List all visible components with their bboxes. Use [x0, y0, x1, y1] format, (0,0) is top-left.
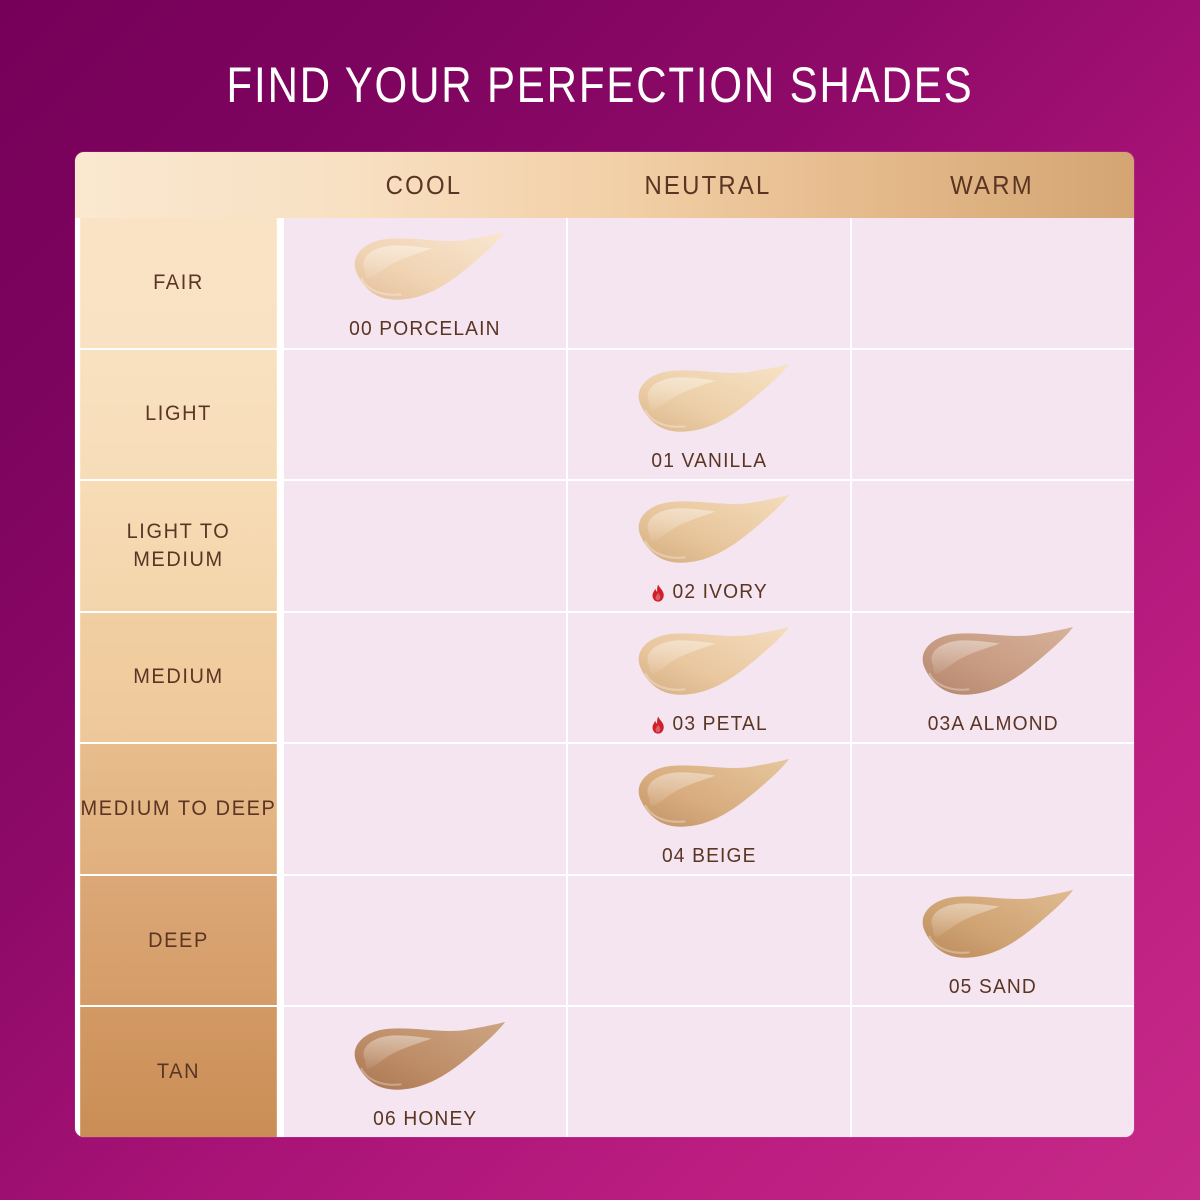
row-label-deep: DEEP: [80, 876, 277, 1006]
shade-cell-empty-neutral-0: [566, 218, 850, 348]
shade-label: 03A ALMOND: [927, 713, 1058, 736]
foundation-swatch-art: [625, 360, 793, 444]
shade-label: 01 VANILLA: [651, 450, 767, 473]
shade-label-text: 05 SAND: [949, 976, 1037, 999]
column-header-neutral: NEUTRAL: [577, 152, 838, 218]
header-corner-cell: [75, 152, 282, 218]
shade-cell-sand[interactable]: 05 SAND: [850, 876, 1134, 1006]
table-row: FAIR 00 PORCELAIN: [75, 218, 1134, 348]
shade-label-text: 01 VANILLA: [651, 450, 767, 473]
shade-cell-almond[interactable]: 03A ALMOND: [850, 613, 1134, 743]
shade-cell-ivory[interactable]: 02 IVORY: [566, 481, 850, 611]
foundation-swatch-art: [909, 886, 1077, 970]
shade-cell-empty-warm-6: [850, 1007, 1134, 1137]
foundation-swatch-art: [909, 623, 1077, 707]
shade-label-text: 04 BEIGE: [662, 845, 757, 868]
shade-cell-honey[interactable]: 06 HONEY: [282, 1007, 566, 1137]
shade-cell-empty-warm-1: [850, 350, 1134, 480]
shade-label-text: 03A ALMOND: [927, 713, 1058, 736]
table-row: LIGHT TO MEDIUM 02 IVORY: [75, 479, 1134, 611]
foundation-swatch-art: [625, 623, 793, 707]
shade-label-text: 06 HONEY: [373, 1108, 477, 1131]
page-title: FIND YOUR PERFECTION SHADES: [96, 56, 1104, 114]
row-label-light: LIGHT: [80, 350, 277, 480]
row-label-fair: FAIR: [80, 218, 277, 348]
foundation-swatch-art: [341, 1018, 509, 1102]
shade-label-text: 00 PORCELAIN: [349, 318, 500, 341]
foundation-swatch-art: [341, 228, 509, 312]
shade-label-text: 03 PETAL: [672, 713, 767, 736]
shade-cell-empty-warm-2: [850, 481, 1134, 611]
shade-cell-vanilla[interactable]: 01 VANILLA: [566, 350, 850, 480]
shade-matrix-table: COOL NEUTRAL WARM FAIR 00 PORCELAINLIGHT: [75, 152, 1134, 1137]
shade-label: 04 BEIGE: [662, 845, 757, 868]
table-row: LIGHT 01 VANILLA: [75, 348, 1134, 480]
shade-label-text: 02 IVORY: [672, 581, 767, 604]
column-header-warm: WARM: [861, 152, 1122, 218]
shade-cell-porcelain[interactable]: 00 PORCELAIN: [282, 218, 566, 348]
table-body: FAIR 00 PORCELAINLIGHT: [75, 218, 1134, 1137]
foundation-swatch-art: [625, 491, 793, 575]
shade-cell-empty-cool-5: [282, 876, 566, 1006]
shade-cell-empty-cool-2: [282, 481, 566, 611]
shade-cell-beige[interactable]: 04 BEIGE: [566, 744, 850, 874]
row-label-tan: TAN: [80, 1007, 277, 1137]
shade-cell-empty-neutral-6: [566, 1007, 850, 1137]
shade-cell-empty-cool-3: [282, 613, 566, 743]
table-header-row: COOL NEUTRAL WARM: [75, 152, 1134, 218]
table-row: DEEP 05 SAND: [75, 874, 1134, 1006]
table-row: MEDIUM 03 PETAL: [75, 611, 1134, 743]
table-row: TAN 06 HONEY: [75, 1005, 1134, 1137]
shade-cell-empty-warm-4: [850, 744, 1134, 874]
shade-cell-petal[interactable]: 03 PETAL: [566, 613, 850, 743]
shade-label: 02 IVORY: [650, 581, 767, 604]
shade-label: 00 PORCELAIN: [349, 318, 500, 341]
table-row: MEDIUM TO DEEP 04 BEIGE: [75, 742, 1134, 874]
shade-label: 06 HONEY: [373, 1108, 477, 1131]
shade-cell-empty-cool-4: [282, 744, 566, 874]
flame-icon: [650, 716, 665, 736]
flame-icon: [650, 584, 665, 604]
column-header-cool: COOL: [293, 152, 554, 218]
shade-cell-empty-warm-0: [850, 218, 1134, 348]
shade-label: 03 PETAL: [650, 713, 767, 736]
row-label-light-to-medium: LIGHT TO MEDIUM: [80, 481, 277, 611]
row-label-medium-to-deep: MEDIUM TO DEEP: [80, 744, 277, 874]
shade-label: 05 SAND: [949, 976, 1037, 999]
foundation-swatch-art: [625, 755, 793, 839]
row-label-medium: MEDIUM: [80, 613, 277, 743]
shade-cell-empty-neutral-5: [566, 876, 850, 1006]
shade-cell-empty-cool-1: [282, 350, 566, 480]
